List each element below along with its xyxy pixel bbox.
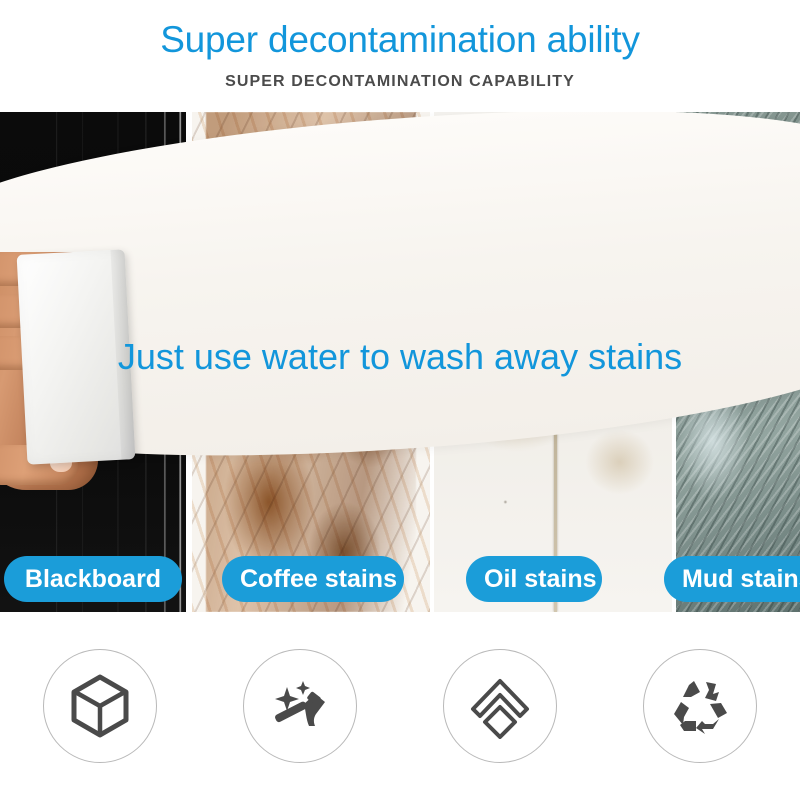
sparkle-clean-icon — [268, 674, 332, 738]
feature-item — [600, 649, 800, 763]
product-poster: Super decontamination ability SUPER DECO… — [0, 0, 800, 800]
stain-label-blackboard: Blackboard — [4, 556, 182, 602]
page-subtitle: SUPER DECONTAMINATION CAPABILITY — [0, 62, 800, 92]
header: Super decontamination ability SUPER DECO… — [0, 0, 800, 112]
feature-item — [0, 649, 200, 763]
page-title: Super decontamination ability — [0, 0, 800, 62]
stain-label-mud: Mud stains — [664, 556, 800, 602]
feature-circle — [243, 649, 357, 763]
cube-icon — [68, 673, 132, 739]
feature-circle — [643, 649, 757, 763]
stain-label-oil: Oil stains — [466, 556, 602, 602]
recycle-icon — [669, 675, 731, 737]
feature-circle — [43, 649, 157, 763]
feature-item — [400, 649, 600, 763]
feature-item — [200, 649, 400, 763]
banner-headline: Just use water to wash away stains — [0, 334, 800, 380]
feature-circle — [443, 649, 557, 763]
chevron-diamond-icon — [467, 673, 533, 739]
feature-icon-row — [0, 612, 800, 800]
stain-label-coffee: Coffee stains — [222, 556, 404, 602]
